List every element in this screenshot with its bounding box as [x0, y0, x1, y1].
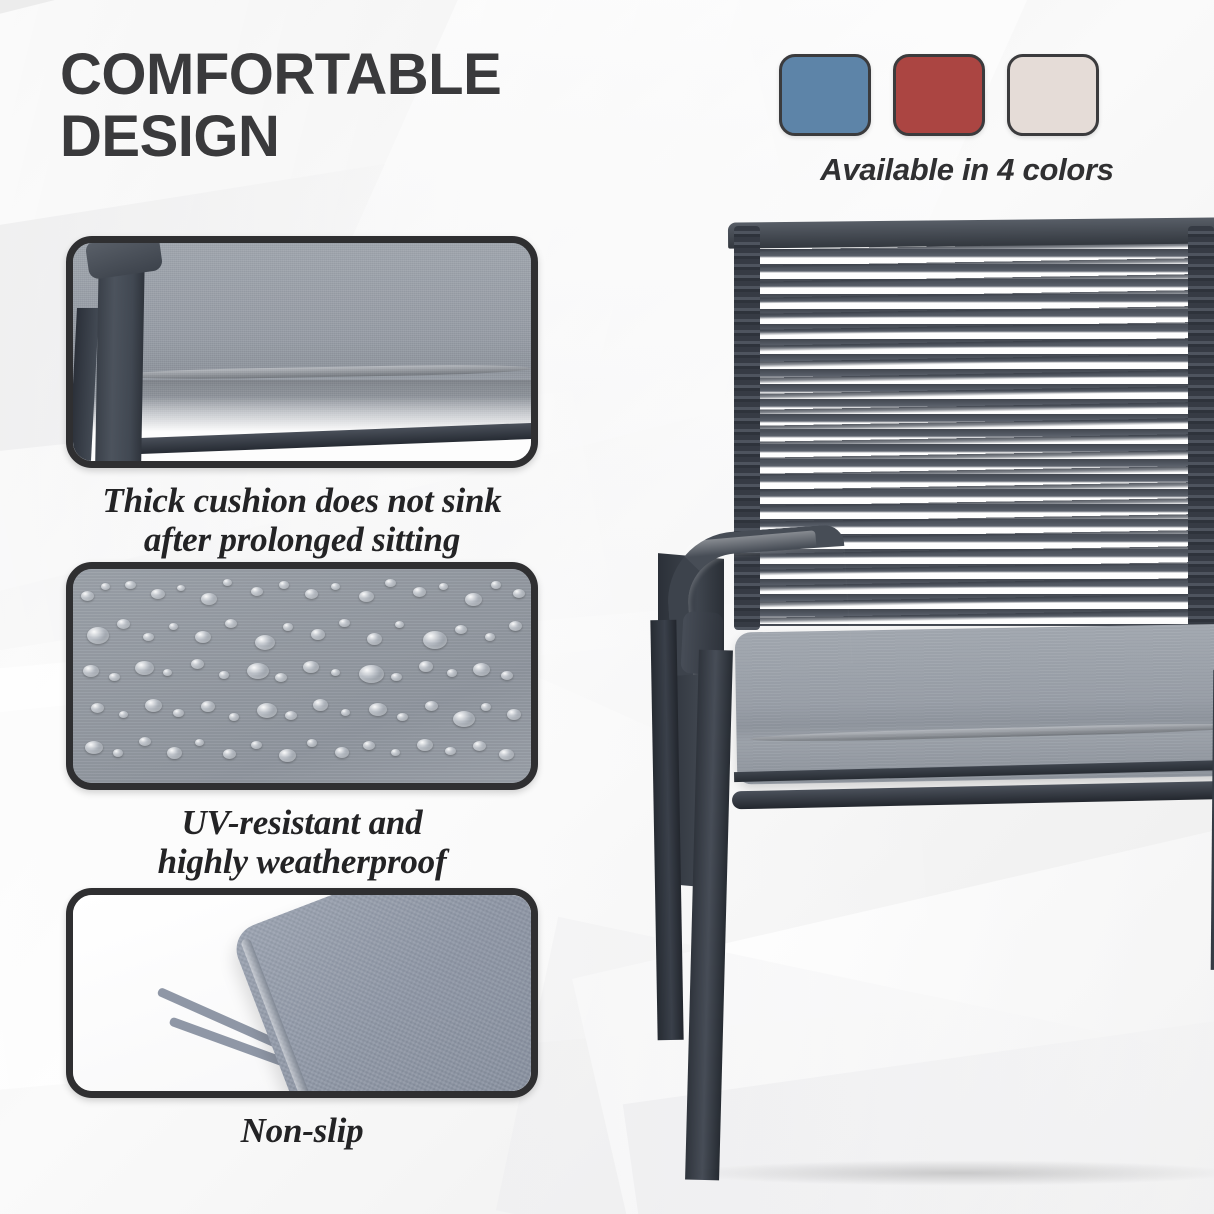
- water-droplet: [465, 593, 482, 606]
- water-droplet: [445, 747, 456, 755]
- water-droplet: [499, 749, 514, 760]
- water-droplet: [359, 591, 374, 602]
- water-droplet: [363, 741, 375, 750]
- water-droplet: [481, 703, 491, 711]
- cream-swatch[interactable]: [1007, 54, 1099, 136]
- water-droplet: [507, 709, 521, 720]
- backrest-top-rail: [728, 217, 1214, 248]
- water-droplet: [513, 589, 525, 598]
- water-droplet: [303, 661, 319, 673]
- water-droplet: [173, 709, 184, 717]
- water-droplet: [439, 583, 448, 590]
- water-droplet: [83, 665, 99, 677]
- water-droplet: [135, 661, 154, 675]
- water-droplet: [223, 579, 232, 586]
- water-droplet: [101, 583, 110, 590]
- water-droplet: [369, 703, 387, 716]
- water-droplet: [85, 741, 103, 754]
- water-droplet: [257, 703, 277, 718]
- color-swatch-row: [779, 54, 1155, 136]
- fabric-texture: [73, 569, 531, 783]
- feature-image-non-slip: [66, 888, 538, 1098]
- water-droplet: [423, 631, 447, 649]
- water-droplet: [119, 711, 128, 718]
- page-title: COMFORTABLE DESIGN: [60, 44, 680, 168]
- water-droplet: [113, 749, 123, 757]
- water-droplet: [247, 663, 269, 679]
- caption-line-1: Thick cushion does not sink: [66, 481, 538, 520]
- water-droplet: [151, 589, 165, 599]
- water-droplet: [453, 711, 475, 727]
- water-droplet: [255, 635, 275, 650]
- water-droplet: [391, 749, 400, 756]
- feature-uv-resistant: UV-resistant and highly weatherproof: [66, 562, 538, 881]
- water-droplet: [331, 669, 340, 676]
- feature-thick-cushion: Thick cushion does not sink after prolon…: [66, 236, 538, 559]
- water-droplet: [139, 737, 151, 746]
- water-droplet: [311, 629, 325, 640]
- water-droplet: [385, 579, 396, 587]
- water-droplet: [177, 585, 185, 591]
- water-droplet: [285, 711, 297, 720]
- water-droplet: [201, 701, 215, 712]
- feature-caption-thick-cushion: Thick cushion does not sink after prolon…: [66, 481, 538, 559]
- water-droplet: [143, 633, 154, 641]
- product-feature-graphic: COMFORTABLE DESIGN Available in 4 colors…: [0, 0, 1214, 1214]
- feature-image-uv-resistant: [66, 562, 538, 790]
- page-title-line-2: DESIGN: [60, 106, 680, 168]
- caption-line-1: Non-slip: [66, 1111, 538, 1150]
- page-title-line-1: COMFORTABLE: [60, 44, 680, 106]
- water-droplet: [367, 633, 382, 645]
- water-droplet: [473, 741, 486, 751]
- water-droplet: [341, 709, 350, 716]
- product-photo: [640, 200, 1214, 1210]
- water-droplet: [229, 713, 239, 721]
- color-options-caption: Available in 4 colors: [779, 152, 1155, 188]
- water-droplet: [331, 583, 340, 590]
- water-droplet: [397, 713, 408, 721]
- backrest-right-post: [1188, 226, 1214, 630]
- water-droplet: [307, 739, 317, 747]
- water-droplet: [391, 673, 402, 681]
- water-droplet: [195, 631, 211, 643]
- water-droplet: [225, 619, 237, 628]
- water-droplet: [223, 749, 236, 759]
- water-droplet: [509, 621, 522, 631]
- water-droplet: [167, 747, 182, 759]
- color-options: Available in 4 colors: [779, 54, 1155, 188]
- feature-non-slip: Non-slip: [66, 888, 538, 1150]
- water-droplet: [195, 739, 204, 746]
- caption-line-2: highly weatherproof: [66, 842, 538, 881]
- water-droplet: [91, 703, 104, 713]
- floor-shadow: [680, 1160, 1214, 1186]
- water-droplet: [419, 661, 433, 672]
- feature-caption-uv-resistant: UV-resistant and highly weatherproof: [66, 803, 538, 881]
- frame-brace-lower: [732, 781, 1214, 810]
- water-droplet: [191, 659, 204, 669]
- water-droplet: [145, 699, 162, 712]
- water-droplet: [283, 623, 293, 631]
- water-droplet: [169, 623, 178, 630]
- water-droplet: [251, 741, 262, 749]
- water-droplet: [219, 671, 229, 679]
- red-swatch[interactable]: [893, 54, 985, 136]
- water-droplet: [417, 739, 433, 751]
- feature-image-thick-cushion: [66, 236, 538, 468]
- water-droplet: [109, 673, 120, 681]
- caption-line-2: after prolonged sitting: [66, 520, 538, 559]
- blue-swatch[interactable]: [779, 54, 871, 136]
- water-droplet: [117, 619, 130, 629]
- water-droplet: [313, 699, 328, 711]
- water-droplet: [305, 589, 318, 599]
- caption-line-1: UV-resistant and: [66, 803, 538, 842]
- water-droplet: [447, 669, 457, 677]
- water-droplet: [425, 701, 438, 711]
- feature-caption-non-slip: Non-slip: [66, 1111, 538, 1150]
- water-droplet: [275, 673, 287, 682]
- water-droplet: [201, 593, 217, 605]
- water-droplet: [251, 587, 263, 596]
- water-droplet: [339, 619, 350, 627]
- water-droplet: [455, 625, 467, 634]
- water-droplet: [81, 591, 94, 601]
- water-droplet: [485, 633, 495, 641]
- water-droplet: [501, 671, 513, 680]
- water-droplet: [473, 663, 490, 676]
- water-droplet: [359, 665, 384, 683]
- water-droplet: [279, 749, 296, 762]
- water-droplet: [335, 747, 349, 758]
- water-droplet: [87, 627, 109, 644]
- water-droplet: [125, 581, 136, 589]
- water-droplet: [491, 581, 501, 589]
- water-droplet: [279, 581, 289, 589]
- water-droplet: [163, 669, 172, 676]
- water-droplet: [395, 621, 404, 628]
- water-droplet: [413, 587, 426, 597]
